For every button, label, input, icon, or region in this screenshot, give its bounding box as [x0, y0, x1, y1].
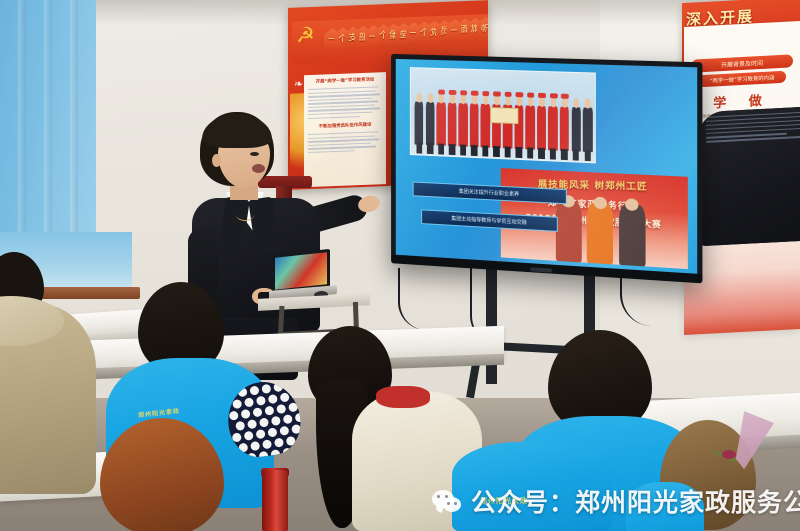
party-emblem-icon: ☭	[296, 23, 322, 48]
slide-photo-person-head	[551, 97, 557, 107]
polka-dot	[255, 429, 265, 439]
attendee-red-scarf	[376, 386, 430, 408]
award-photo-person	[619, 204, 646, 266]
photo-scene: ☭ 一个支部一个堡垒一个党员一面旗帜 ❧ 开展“两学一做”学习教育活动 不断加强…	[0, 0, 800, 531]
window-curtain	[0, 0, 96, 250]
presenter-necklace	[236, 208, 254, 221]
poster-article-title: 开展“两学一做”学习教育活动	[308, 76, 382, 86]
slide-photo-person-head	[461, 94, 466, 104]
slide-photo-person-head	[472, 94, 477, 104]
poster-pill-1: “两学一做”学习教育的内涵	[698, 71, 786, 88]
slide-photo-person	[548, 106, 557, 151]
slide-photo-person-legs	[527, 147, 533, 158]
slide-photo-person-head	[574, 98, 580, 108]
presenter-mouth	[252, 164, 265, 173]
slide-photo-person-legs	[561, 149, 567, 160]
polka-dot	[244, 431, 254, 441]
slide-photo-person-legs	[438, 144, 444, 155]
polka-dot	[238, 443, 248, 453]
polka-dot	[252, 407, 262, 417]
laptop-screen	[275, 252, 327, 289]
slide-photo-person-legs	[538, 148, 544, 159]
polka-dot	[229, 411, 239, 421]
slide-photo-person-hat	[505, 92, 512, 97]
slide-photo-person-hat	[493, 92, 500, 97]
slide-photo-person	[458, 103, 467, 147]
slide-photo-person	[526, 105, 535, 149]
polka-dot	[262, 439, 272, 449]
wall-display[interactable]: 展技能风采 树郑州工匠 郑州市家政服务行业 2018年度郑州市家政服务员大赛 集…	[391, 54, 702, 283]
slide-photo-person-hat	[538, 93, 545, 98]
wechat-watermark: 公众号：郑州阳光家政服务公司	[432, 483, 800, 519]
polka-dot	[241, 409, 251, 419]
presenter-ear	[212, 154, 221, 167]
wechat-icon	[432, 489, 462, 514]
slide-photo-person	[447, 102, 456, 146]
polka-dot	[288, 402, 298, 412]
slide-photo-person-hat	[561, 94, 569, 99]
slide-photo-person-head	[562, 97, 568, 107]
slide-photo-person-hat	[471, 91, 478, 96]
slide-photo-person-legs	[416, 143, 422, 154]
watermark-text: 公众号：郑州阳光家政服务公司	[471, 483, 800, 519]
polka-dot	[259, 417, 269, 427]
slide-photo-person-hat	[460, 91, 467, 96]
slide-photo-person-legs	[505, 146, 511, 157]
slide-photo-person-head	[539, 97, 545, 107]
flower-ribbon	[722, 450, 736, 459]
polka-dot	[244, 397, 254, 407]
slide-photo-person-legs	[516, 147, 522, 158]
presenter-eye	[250, 152, 259, 156]
polka-dot	[249, 385, 259, 395]
polka-dot	[256, 396, 266, 406]
polka-dot	[273, 382, 283, 392]
slide-photo-person-hat	[516, 92, 523, 97]
slide-photo-person-hat	[527, 93, 534, 98]
slide-photo-person	[426, 101, 435, 145]
polka-dot	[276, 404, 286, 414]
slide-photo-person-hat	[482, 91, 489, 96]
slide-photo-person-hat	[449, 90, 456, 95]
award-photo-person	[555, 201, 581, 262]
polka-dot	[232, 399, 242, 409]
award-photo-person-head	[626, 198, 639, 211]
polka-dot	[226, 389, 236, 399]
display-screen[interactable]: 展技能风采 树郑州工匠 郑州市家政服务行业 2018年度郑州市家政服务员大赛 集…	[396, 59, 697, 274]
slide-photo-person-head	[505, 96, 511, 106]
slide-photo-person-hat	[550, 93, 557, 98]
slide-photo-person-legs	[584, 150, 590, 161]
polka-dot	[237, 387, 247, 397]
slide-photo-person	[537, 105, 546, 150]
slide-photo-person	[571, 107, 580, 152]
slide-photo-person	[583, 107, 592, 152]
polka-dot	[283, 414, 293, 424]
dove-icon: ❧	[294, 77, 303, 90]
slide-photo-person	[481, 103, 490, 147]
polka-dot	[247, 419, 257, 429]
slide-photo-person-head	[528, 96, 534, 106]
polka-dot	[261, 384, 271, 394]
slide-photo-person-hat	[438, 90, 445, 95]
polka-dot	[267, 427, 277, 437]
slide-photo-person	[415, 101, 424, 145]
slide-photo-person-legs	[573, 149, 579, 160]
slide-photo-person-legs	[482, 145, 488, 156]
slide-photo-person-head	[517, 96, 523, 106]
poster-section-label: 开展背景及时间	[691, 54, 793, 72]
polka-dot	[271, 416, 281, 426]
polka-dot	[250, 441, 260, 451]
polka-dot	[268, 394, 278, 404]
slide-photo-person	[436, 102, 445, 146]
slide-photo-person-head	[439, 93, 444, 103]
polka-dot	[264, 406, 274, 416]
slide-photo-person-legs	[550, 148, 556, 159]
slide-photo-person-head	[483, 95, 488, 105]
slide-photo-person-head	[417, 93, 422, 103]
slide-photo-person-head	[585, 98, 591, 108]
slide-photo-person-legs	[460, 145, 466, 156]
certificate-icon	[491, 107, 519, 124]
slide-photo-person-legs	[449, 144, 455, 155]
red-thermos[interactable]	[262, 470, 288, 531]
slide-photo-person-head	[428, 93, 433, 103]
polka-dot	[232, 432, 242, 442]
polka-dot	[280, 392, 290, 402]
slide-photo-person-legs	[427, 143, 433, 154]
slide-photo-group	[410, 67, 596, 164]
slide-photo-person-legs	[493, 146, 499, 157]
slide-photo-person-legs	[471, 145, 477, 156]
polka-dot	[235, 421, 245, 431]
award-photo-person-head	[594, 197, 607, 210]
polka-dot	[274, 438, 284, 448]
presenter-hair-front	[202, 114, 272, 148]
slide-photo-person	[470, 103, 479, 147]
slide-photo-person-head	[450, 94, 455, 104]
polka-dot	[279, 426, 289, 436]
slide-photo-person	[560, 106, 569, 151]
slide-photo-person-head	[494, 95, 500, 105]
award-photo-person	[587, 203, 613, 265]
